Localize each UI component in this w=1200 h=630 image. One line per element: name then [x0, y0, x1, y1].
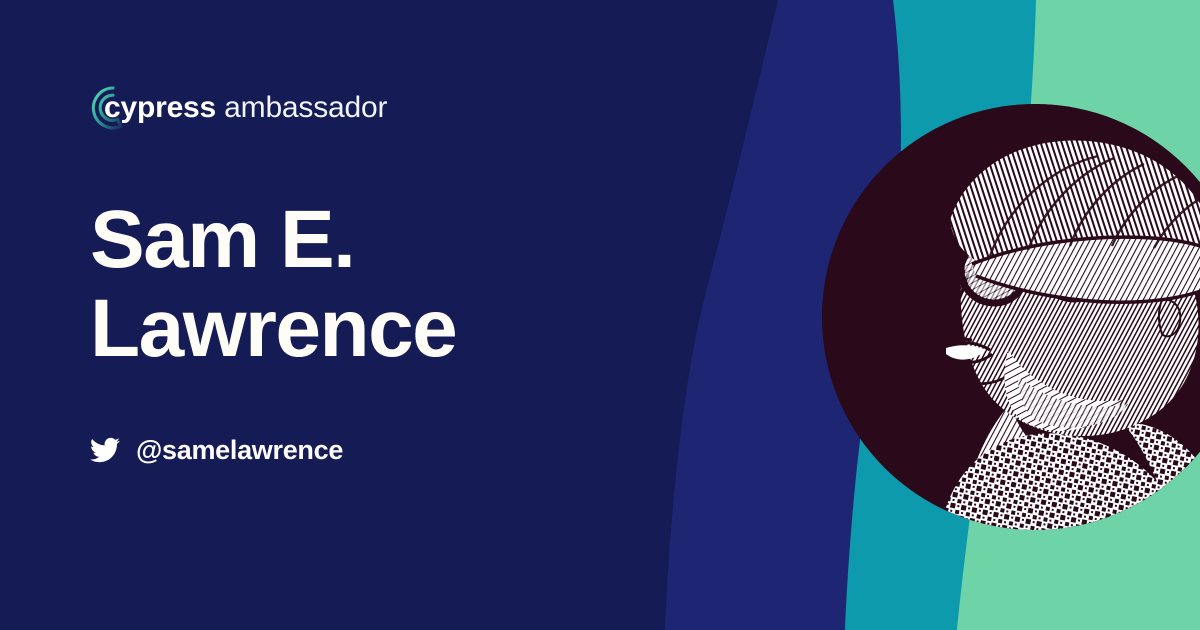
- name-line-2: Lawrence: [90, 285, 650, 374]
- brand-name-strong: cypress: [104, 91, 216, 124]
- card-content: cypress ambassador Sam E. Lawrence @same…: [0, 0, 660, 630]
- social-handle[interactable]: @samelawrence: [90, 432, 343, 468]
- name-line-1: Sam E.: [90, 196, 650, 285]
- brand-wordmark: cypress ambassador: [104, 93, 387, 123]
- page-title: Sam E. Lawrence: [90, 196, 650, 373]
- brand-name-light: ambassador: [216, 91, 387, 124]
- ambassador-card: cypress ambassador Sam E. Lawrence @same…: [0, 0, 1200, 630]
- brand-lockup: cypress ambassador: [90, 82, 387, 134]
- social-handle-text[interactable]: @samelawrence: [136, 437, 343, 464]
- twitter-bird-icon[interactable]: [90, 435, 120, 465]
